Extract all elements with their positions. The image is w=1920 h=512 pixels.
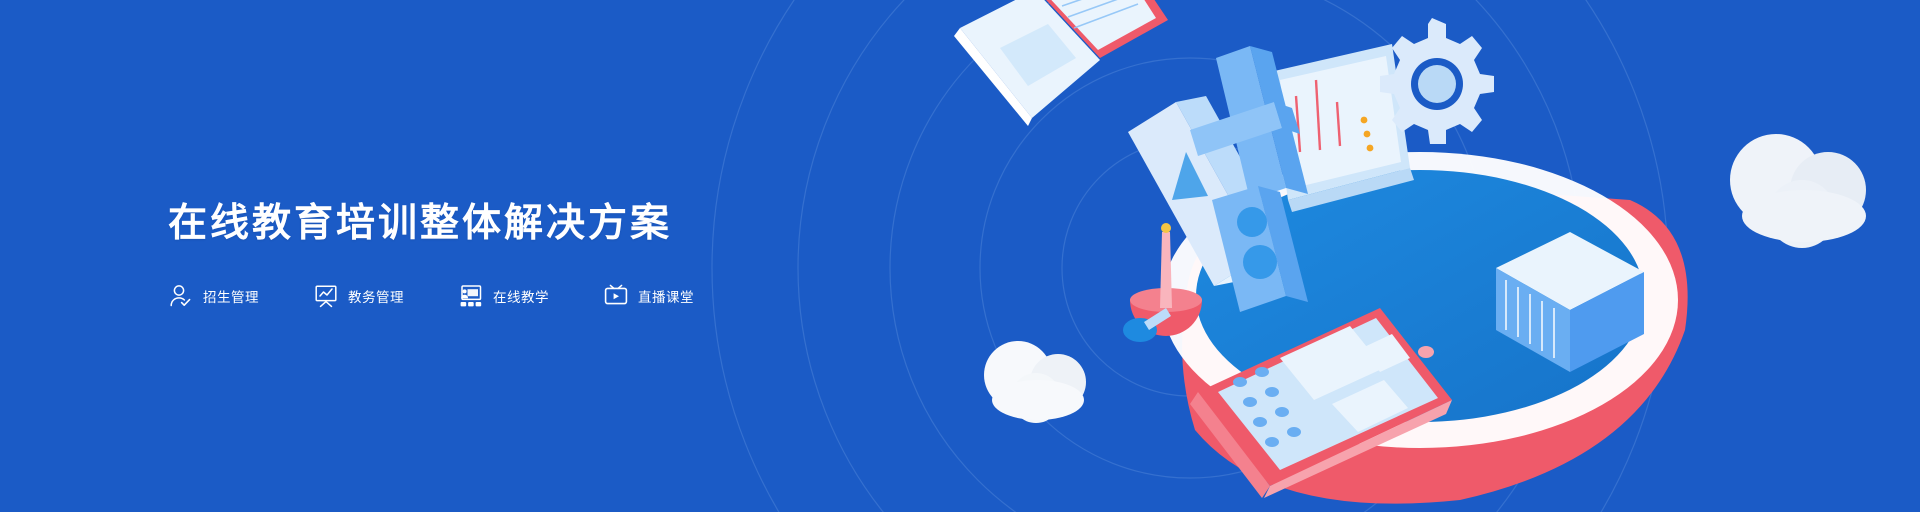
tv-play-icon <box>603 283 629 309</box>
feature-label: 直播课堂 <box>638 286 694 306</box>
open-book <box>954 0 1168 126</box>
banner-content: 在线教育培训整体解决方案 招生管理 教务管理 <box>168 0 694 512</box>
feature-item-live-classroom[interactable]: 直播课堂 <box>603 283 694 309</box>
chart-board-icon <box>313 283 339 309</box>
feature-item-enrollment[interactable]: 招生管理 <box>168 283 259 309</box>
hero-banner: 在线教育培训整体解决方案 招生管理 教务管理 <box>0 0 1920 512</box>
feature-label: 教务管理 <box>348 286 404 306</box>
feature-label: 招生管理 <box>203 286 259 306</box>
cloud-large <box>1730 134 1866 248</box>
classroom-icon <box>458 283 484 309</box>
feature-list: 招生管理 教务管理 <box>168 283 694 309</box>
user-check-icon <box>168 283 194 309</box>
feature-label: 在线教学 <box>493 286 549 306</box>
feature-item-online-teaching[interactable]: 在线教学 <box>458 283 549 309</box>
illustration <box>940 0 1920 512</box>
cloud-small <box>984 341 1086 423</box>
gear-icon <box>1380 18 1494 144</box>
page-title: 在线教育培训整体解决方案 <box>168 203 694 246</box>
feature-item-academic-affairs[interactable]: 教务管理 <box>313 283 404 309</box>
